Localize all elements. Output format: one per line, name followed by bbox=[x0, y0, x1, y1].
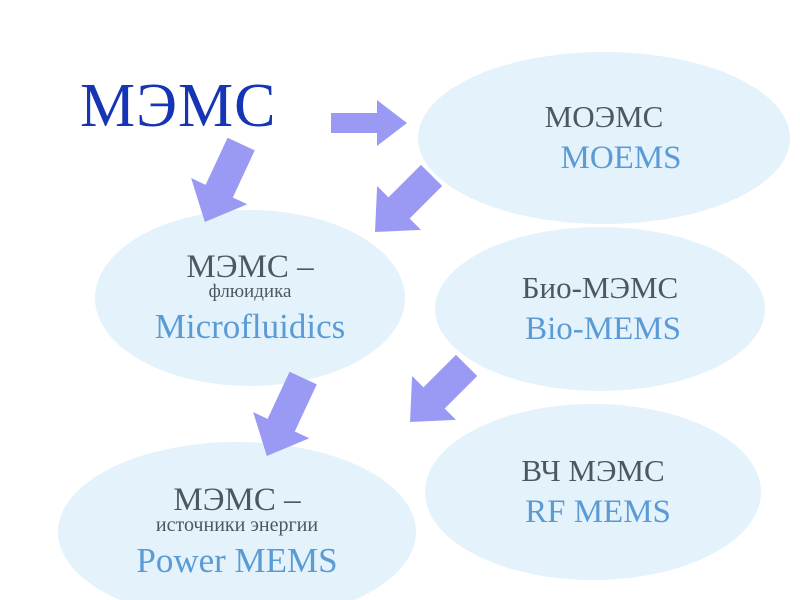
node-bio-mems[interactable]: Био-МЭМС Bio-MEMS bbox=[435, 227, 765, 391]
node-moems[interactable]: МОЭМС MOEMS bbox=[418, 52, 790, 224]
node-microfluidics-ru-sublabel: флюидика bbox=[209, 282, 292, 302]
node-rf-mems-en-label: RF MEMS bbox=[525, 494, 671, 530]
arrow-down-right-icon-moems-to-bio bbox=[363, 162, 445, 244]
node-microfluidics[interactable]: МЭМС – флюидика Microfluidics bbox=[95, 210, 405, 386]
node-moems-en-label: MOEMS bbox=[560, 140, 681, 176]
arrow-down-right-icon-microfluidics-to-power bbox=[248, 374, 322, 460]
node-power-mems-en-label: Power MEMS bbox=[136, 542, 337, 581]
arrow-down-right-icon-root-to-microfluidics bbox=[186, 140, 260, 226]
node-bio-mems-ru-label: Био-МЭМС bbox=[522, 271, 678, 304]
diagram-canvas: МЭМС МОЭМС MOEMS МЭМС – флюидика Microfl… bbox=[0, 0, 800, 600]
arrow-right-icon-root-to-moems bbox=[331, 100, 407, 146]
node-power-mems-ru-sublabel: источники энергии bbox=[156, 515, 318, 536]
node-microfluidics-en-label: Microfluidics bbox=[155, 308, 346, 347]
arrow-down-right-icon-bio-to-rf bbox=[398, 352, 480, 434]
node-rf-mems-ru-label: ВЧ МЭМС bbox=[521, 454, 664, 487]
node-power-mems[interactable]: МЭМС – источники энергии Power MEMS bbox=[58, 442, 416, 600]
node-bio-mems-en-label: Bio-MEMS bbox=[525, 311, 681, 347]
diagram-root-title: МЭМС bbox=[80, 74, 340, 139]
node-moems-ru-label: МОЭМС bbox=[545, 100, 664, 133]
